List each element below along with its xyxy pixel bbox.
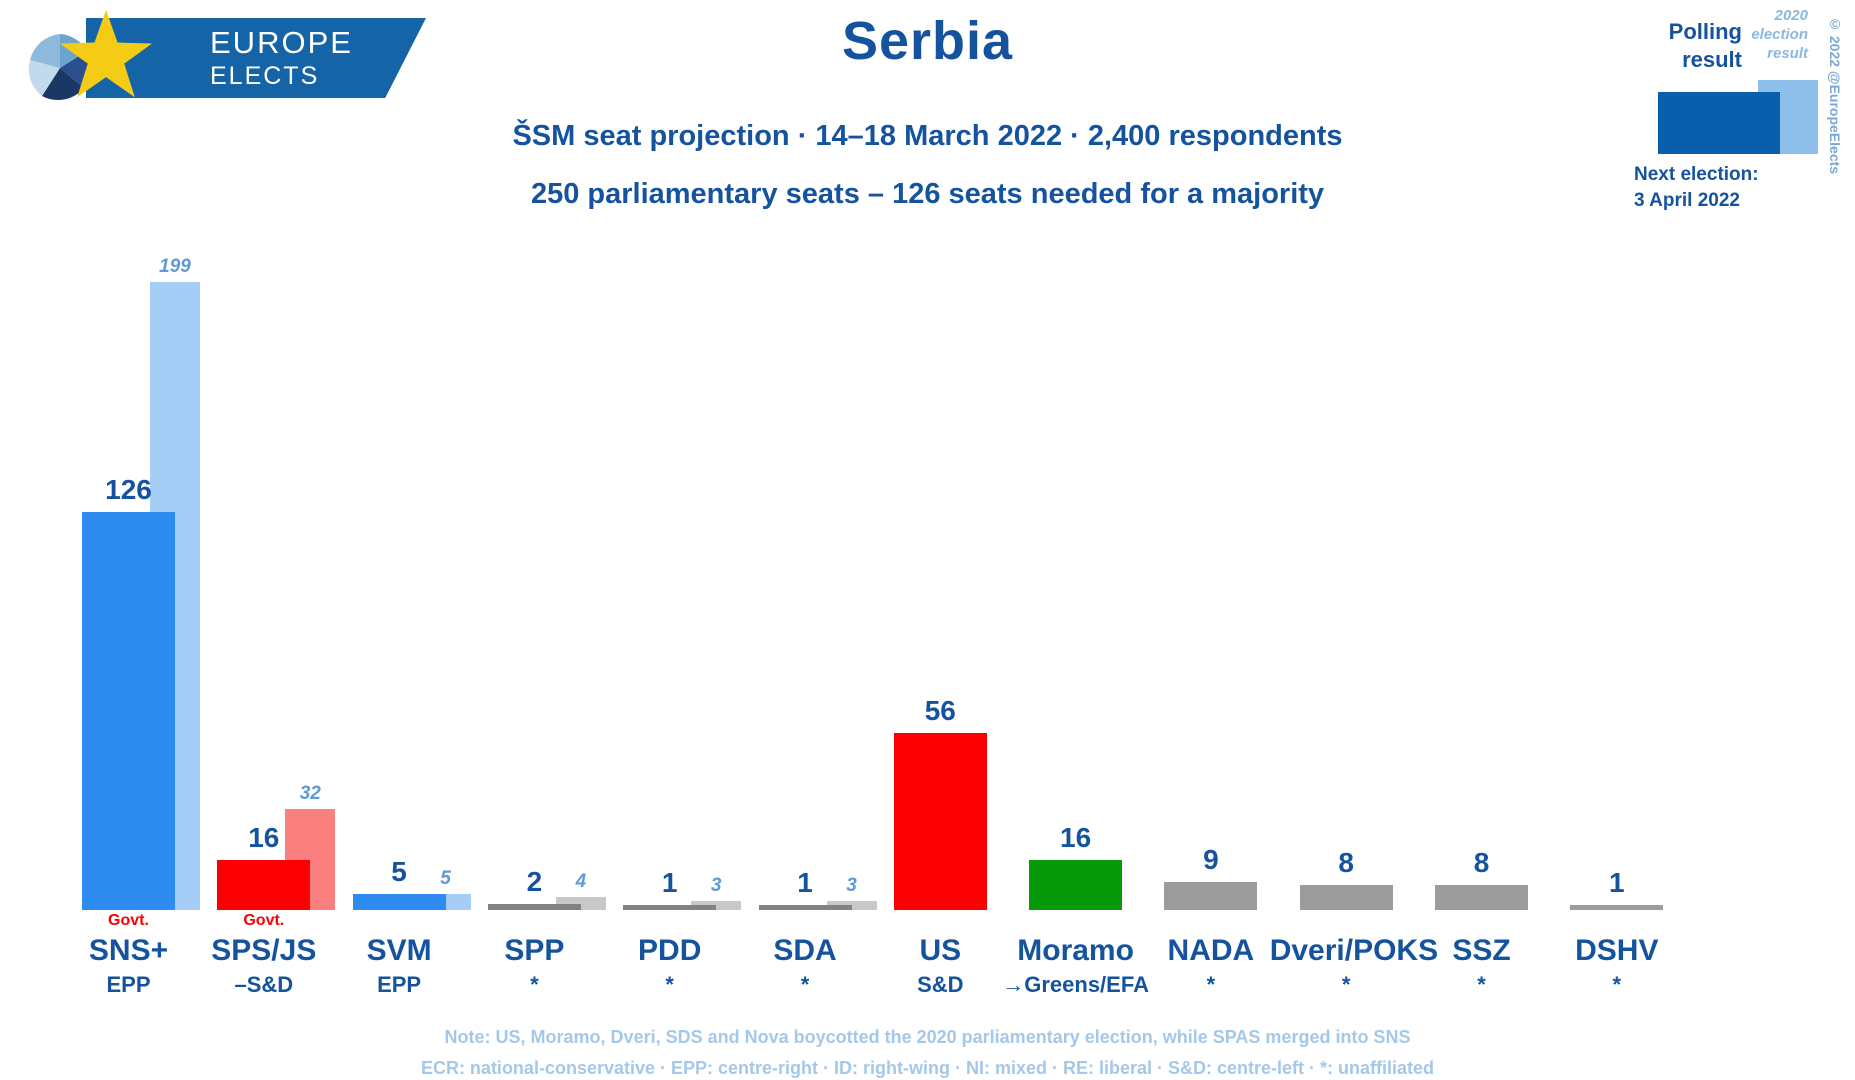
x-label-svm: SVMEPP: [323, 910, 476, 1000]
x-label-pdd: PDD*: [593, 910, 746, 1000]
party-name: DSHV: [1540, 932, 1693, 970]
copyright-text: © 2022 @EuropeElects: [1827, 16, 1843, 174]
bar-value-previous: 32: [273, 783, 347, 805]
party-name: PDD: [593, 932, 746, 970]
bar-polling-result: [82, 512, 175, 910]
govt-badge: Govt.: [187, 910, 340, 932]
bar-value-polling: 8: [1300, 847, 1393, 879]
x-label-ssz: SSZ*: [1405, 910, 1558, 1000]
bar-value-polling: 16: [1029, 822, 1122, 854]
party-group: EPP: [52, 970, 205, 1000]
x-label-nada: NADA*: [1134, 910, 1287, 1000]
legend-polling-line1: Polling: [1669, 19, 1742, 44]
party-name: SVM: [323, 932, 476, 970]
bar-polling-result: [1164, 882, 1257, 910]
bar-value-polling: 56: [894, 695, 987, 727]
bar-value-previous: 199: [138, 256, 212, 278]
seat-projection-bar-chart: 19912632165542313156169881: [0, 225, 1855, 910]
x-label-sda: SDA*: [729, 910, 882, 1000]
footnote-line-2: ECR: national-conservative · EPP: centre…: [0, 1053, 1855, 1080]
party-name: SSZ: [1405, 932, 1558, 970]
bar-value-polling: 16: [217, 822, 310, 854]
legend-prev-line1: 2020: [1775, 7, 1808, 24]
govt-badge: Govt.: [52, 910, 205, 932]
x-label-moramo: Moramo→Greens/EFA: [999, 910, 1152, 1000]
footnotes: Note: US, Moramo, Dveri, SDS and Nova bo…: [0, 1022, 1855, 1080]
legend-polling-result-label: Polling result: [1630, 18, 1742, 74]
next-election-line2: 3 April 2022: [1634, 190, 1740, 211]
party-group: *: [1405, 970, 1558, 1000]
legend-polling-line2: result: [1682, 47, 1742, 72]
party-group: *: [1270, 970, 1423, 1000]
subtitle-seat-info: 250 parliamentary seats – 126 seats need…: [0, 178, 1855, 211]
bar-value-polling: 126: [82, 474, 175, 506]
x-label-dveri-poks: Dveri/POKS*: [1270, 910, 1423, 1000]
party-group: *: [729, 970, 882, 1000]
party-name: Dveri/POKS: [1270, 932, 1423, 970]
x-label-spp: SPP*: [458, 910, 611, 1000]
x-label-sps-js: Govt.SPS/JS–S&D: [187, 910, 340, 1000]
party-group: *: [1540, 970, 1693, 1000]
footnote-line-1: Note: US, Moramo, Dveri, SDS and Nova bo…: [0, 1022, 1855, 1053]
bar-polling-result: [217, 860, 310, 910]
legend-prev-line3: result: [1767, 45, 1808, 62]
legend-prev-line2: election: [1751, 26, 1808, 43]
party-group: *: [593, 970, 746, 1000]
legend-swatch-polling: [1658, 92, 1780, 154]
x-label-dshv: DSHV*: [1540, 910, 1693, 1000]
bar-value-polling: 1: [759, 867, 852, 899]
x-label-us: USS&D: [864, 910, 1017, 1000]
party-name: Moramo: [999, 932, 1152, 970]
bar-polling-result: [1300, 885, 1393, 910]
chart-legend: Polling result 2020 election result Next…: [1630, 4, 1845, 224]
bar-value-polling: 1: [623, 867, 716, 899]
party-name: SPP: [458, 932, 611, 970]
bar-value-polling: 8: [1435, 847, 1528, 879]
party-name: SDA: [729, 932, 882, 970]
subtitle-poll-info: ŠSM seat projection · 14–18 March 2022 ·…: [0, 120, 1855, 153]
bar-value-polling: 5: [353, 856, 446, 888]
party-name: SPS/JS: [187, 932, 340, 970]
party-group: S&D: [864, 970, 1017, 1000]
next-election-line1: Next election:: [1634, 164, 1759, 185]
infographic-page: EUROPE ELECTS Serbia ŠSM seat projection…: [0, 0, 1855, 1080]
party-name: SNS+: [52, 932, 205, 970]
bar-polling-result: [353, 894, 446, 910]
bar-column: 1: [1570, 225, 1731, 910]
party-name: NADA: [1134, 932, 1287, 970]
x-axis-labels: Govt.SNS+EPPGovt.SPS/JS–S&D SVMEPP SPP* …: [0, 910, 1855, 1020]
party-group: *: [458, 970, 611, 1000]
legend-previous-result-label: 2020 election result: [1748, 6, 1808, 63]
bar-polling-result: [1029, 860, 1122, 910]
bar-value-polling: 1: [1570, 867, 1663, 899]
bar-polling-result: [1435, 885, 1528, 910]
party-group: EPP: [323, 970, 476, 1000]
x-label-sns-: Govt.SNS+EPP: [52, 910, 205, 1000]
party-group: –S&D: [187, 970, 340, 1000]
party-name: US: [864, 932, 1017, 970]
next-election-label: Next election: 3 April 2022: [1634, 162, 1809, 214]
bar-polling-result: [894, 733, 987, 910]
bar-value-polling: 2: [488, 866, 581, 898]
page-title: Serbia: [0, 10, 1855, 72]
bar-value-polling: 9: [1164, 844, 1257, 876]
party-group: *: [1134, 970, 1287, 1000]
party-group: →Greens/EFA: [999, 970, 1152, 1000]
